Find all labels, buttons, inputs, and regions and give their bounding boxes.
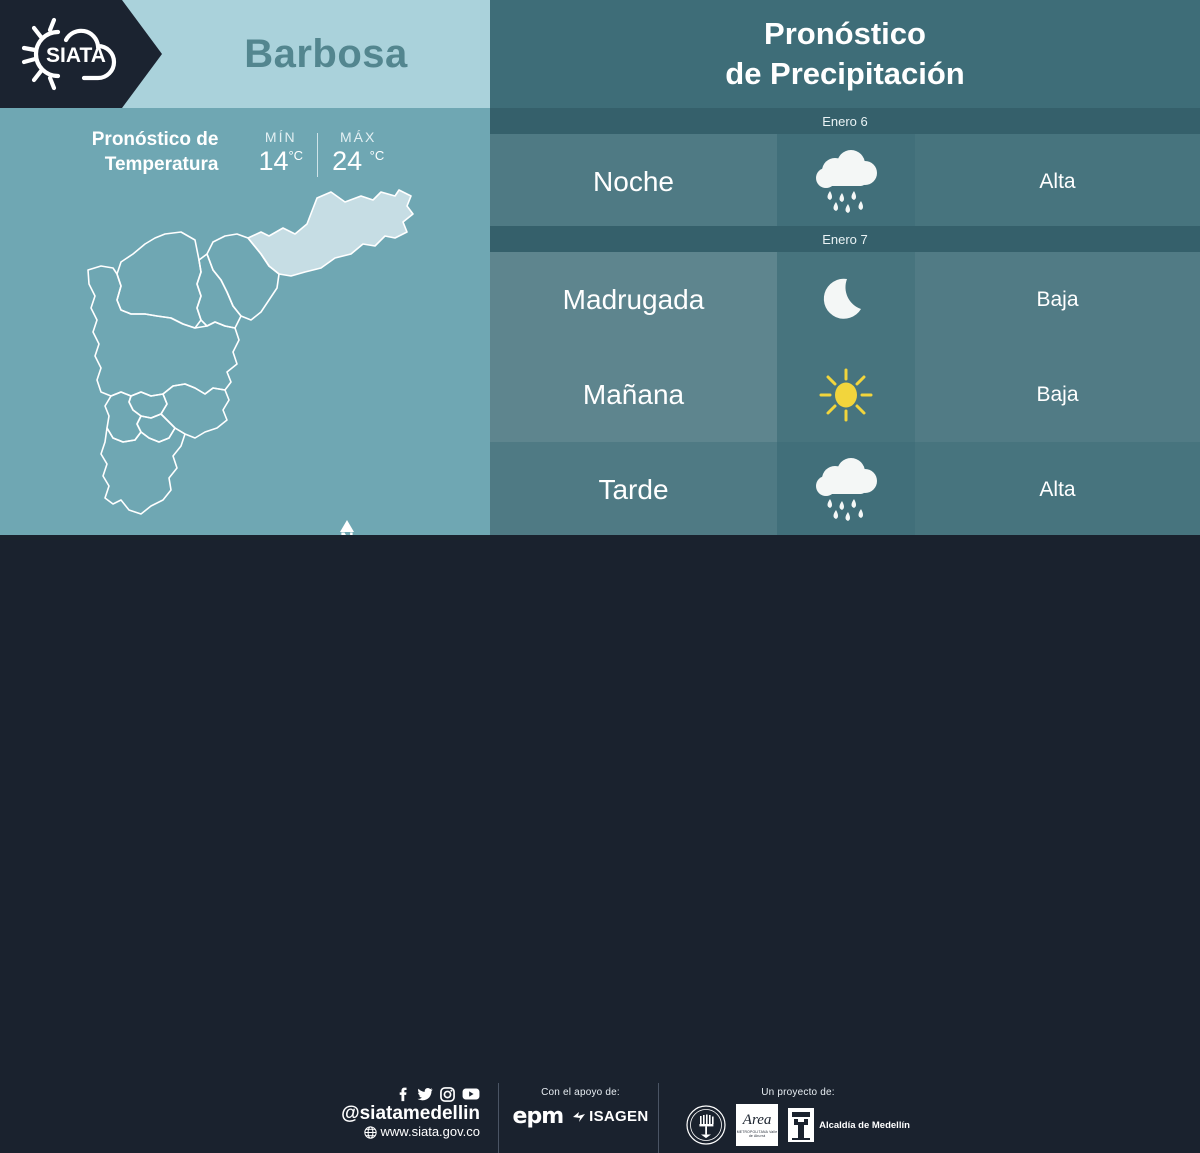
temperature-min-value: 14°C [258,146,303,177]
alcaldia-logo: Alcaldía de Medellín [788,1108,910,1142]
isagen-text: ISAGEN [589,1108,648,1125]
infographic-canvas: SIATA Barbosa Pronóstico de Temperatura … [0,0,1200,630]
precipitation-title-line1: Pronóstico [490,14,1200,54]
alcaldia-text: Alcaldía de Medellín [819,1120,910,1131]
forecast-period: Madrugada [490,252,777,347]
city-title: Barbosa [162,0,490,108]
date-band-enero-7: Enero 7 [490,226,1200,252]
map-region-copacabana[interactable] [197,254,241,328]
forecast-level: Alta [915,134,1200,229]
precipitation-title-line2: de Precipitación [490,54,1200,94]
project-caption: Un proyecto de: [668,1087,928,1098]
moon-icon [777,252,915,347]
area-logo-sub: METROPOLITANA Valle de Aburrá [736,1130,778,1138]
epm-logo: epm [513,1104,564,1129]
alcaldia-mark-icon [788,1108,814,1142]
area-metropolitana-logo: Area METROPOLITANA Valle de Aburrá [736,1104,778,1146]
isagen-mark-icon [573,1111,587,1123]
project-logos: Area METROPOLITANA Valle de Aburrá [668,1104,928,1146]
temperature-title-line1: Pronóstico de [92,128,219,153]
min-number: 14 [258,146,288,176]
map-region-medellin[interactable] [88,266,239,396]
forecast-level: Baja [915,252,1200,347]
temperature-max-value: 24 °C [332,146,384,177]
aburra-valley-map: N [55,188,445,528]
temperature-min-label: MÍN [265,129,297,145]
forecast-period: Mañana [490,347,777,442]
max-unit: °C [370,148,385,163]
social-icons [330,1087,480,1102]
youtube-icon[interactable] [462,1087,480,1101]
temperature-panel: SIATA Barbosa Pronóstico de Temperatura … [0,0,490,535]
forecast-period: Noche [490,134,777,229]
area-logo-script: Area [743,1113,772,1128]
date-band-enero-6: Enero 6 [490,108,1200,134]
forecast-row-madrugada[interactable]: Madrugada Baja [490,252,1200,347]
forecast-level: Alta [915,442,1200,537]
sun-icon [777,347,915,442]
max-number: 24 [332,146,362,176]
rain-cloud-glyph [809,149,883,215]
globe-icon [364,1126,377,1139]
footer-divider-1 [498,1083,499,1153]
temperature-max: MÁX 24 °C [318,129,398,177]
support-logos: epm ISAGEN [508,1104,653,1129]
udea-seal-icon [686,1105,726,1145]
forecast-row-tarde[interactable]: Tarde Alta [490,442,1200,537]
min-unit: °C [288,148,303,163]
sun-glyph [815,364,877,426]
forecast-period: Tarde [490,442,777,537]
sun-cloud-icon: SIATA [14,12,134,96]
social-handle[interactable]: @siatamedellin [330,1104,480,1124]
forecast-level: Baja [915,347,1200,442]
temperature-max-label: MÁX [340,129,376,145]
support-block: Con el apoyo de: epm ISAGEN [508,1087,653,1129]
left-header: SIATA Barbosa [0,0,490,108]
website-line[interactable]: www.siata.gov.co [330,1124,480,1141]
precipitation-title: Pronóstico de Precipitación [490,14,1200,93]
temperature-min: MÍN 14°C [244,129,317,177]
temperature-summary: Pronóstico de Temperatura MÍN 14°C MÁX 2… [0,118,490,188]
footer: @siatamedellin www.siata.gov.co Con el a… [0,535,1200,630]
temperature-values: MÍN 14°C MÁX 24 °C [244,129,398,177]
facebook-icon[interactable] [395,1087,410,1102]
instagram-icon[interactable] [440,1087,455,1102]
map-region-barbosa[interactable] [248,190,413,276]
moon-glyph [817,271,875,329]
siata-logo-banner: SIATA [0,0,162,108]
forecast-row-manana[interactable]: Mañana Baja [490,347,1200,442]
project-block: Un proyecto de: Area METROPOLITANA Valle… [668,1087,928,1146]
siata-logo-text: SIATA [46,44,106,67]
rain-cloud-icon [777,442,915,537]
forecast-row-noche[interactable]: Noche Alta [490,134,1200,229]
precipitation-panel: Pronóstico de Precipitación Enero 6 Noch… [490,0,1200,535]
website-text: www.siata.gov.co [381,1124,480,1141]
temperature-title: Pronóstico de Temperatura [92,128,219,177]
map-svg [55,188,445,528]
rain-cloud-glyph [809,457,883,523]
support-caption: Con el apoyo de: [508,1087,653,1098]
social-block: @siatamedellin www.siata.gov.co [330,1087,480,1141]
footer-divider-2 [658,1083,659,1153]
map-region-envigado[interactable] [161,384,229,438]
twitter-icon[interactable] [417,1087,433,1102]
temperature-title-line2: Temperatura [92,153,219,178]
isagen-logo: ISAGEN [573,1108,648,1125]
rain-cloud-icon [777,134,915,229]
map-region-caldas[interactable] [101,428,185,514]
